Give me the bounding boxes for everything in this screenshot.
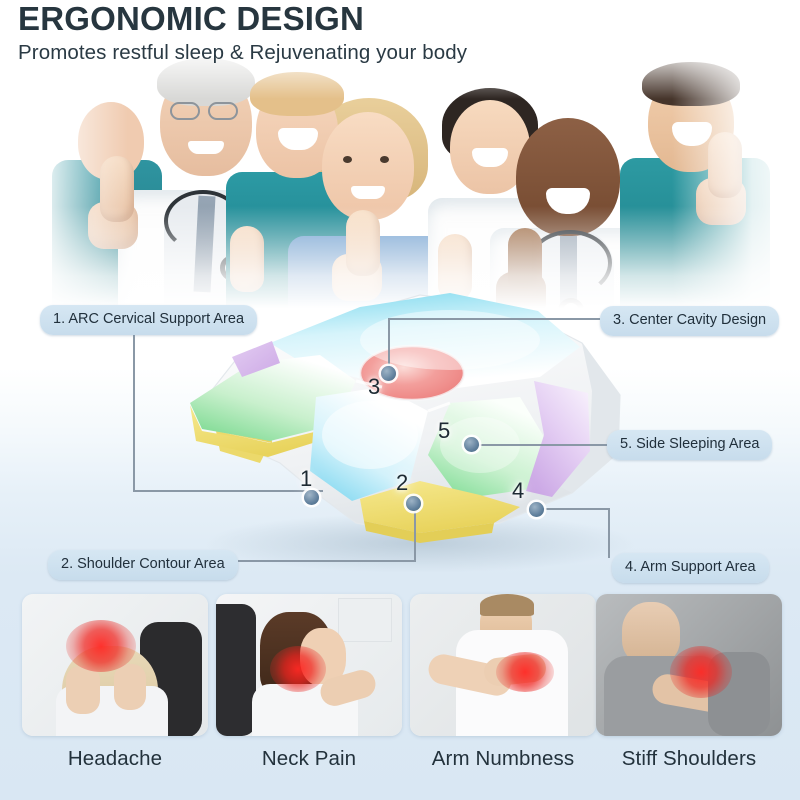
marker-4-number: 4: [512, 478, 524, 504]
leader-line-5: [470, 444, 610, 446]
marker-5-number: 5: [438, 418, 450, 444]
callout-label-4[interactable]: 4. Arm Support Area: [612, 553, 769, 583]
pain-card-headache[interactable]: Headache: [22, 594, 208, 771]
neck-pain-caption: Neck Pain: [216, 747, 402, 771]
neck-pain-photo: [216, 594, 402, 736]
callout-label-5[interactable]: 5. Side Sleeping Area: [607, 430, 772, 460]
marker-2-number: 2: [396, 470, 408, 496]
infographic-page: ERGONOMIC DESIGN Promotes restful sleep …: [0, 0, 800, 800]
stiff-shoulders-caption: Stiff Shoulders: [596, 747, 782, 771]
medical-team-photo: [0, 40, 800, 308]
stiff-shoulders-photo: [596, 594, 782, 736]
page-title: ERGONOMIC DESIGN: [18, 2, 467, 37]
leader-line-2: [238, 500, 416, 562]
headache-photo: [22, 594, 208, 736]
photo-fade-overlay: [0, 40, 800, 308]
callout-label-3[interactable]: 3. Center Cavity Design: [600, 306, 779, 336]
pain-points-row: Headache Neck Pain: [0, 590, 800, 800]
marker-3-number: 3: [368, 374, 380, 400]
headache-caption: Headache: [22, 747, 208, 771]
pain-card-shoulders[interactable]: Stiff Shoulders: [596, 594, 782, 771]
leader-line-4: [536, 508, 610, 564]
pain-card-neck[interactable]: Neck Pain: [216, 594, 402, 771]
pain-card-arm[interactable]: Arm Numbness: [410, 594, 596, 771]
arm-numbness-photo: [410, 594, 596, 736]
leader-line-1: [133, 330, 323, 492]
marker-1-number: 1: [300, 466, 312, 492]
callout-label-1[interactable]: 1. ARC Cervical Support Area: [40, 305, 257, 335]
arm-numbness-caption: Arm Numbness: [410, 747, 596, 771]
header: ERGONOMIC DESIGN Promotes restful sleep …: [18, 2, 467, 65]
leader-line-3: [388, 318, 600, 374]
page-subtitle: Promotes restful sleep & Rejuvenating yo…: [18, 41, 467, 65]
callout-label-2[interactable]: 2. Shoulder Contour Area: [48, 550, 238, 580]
